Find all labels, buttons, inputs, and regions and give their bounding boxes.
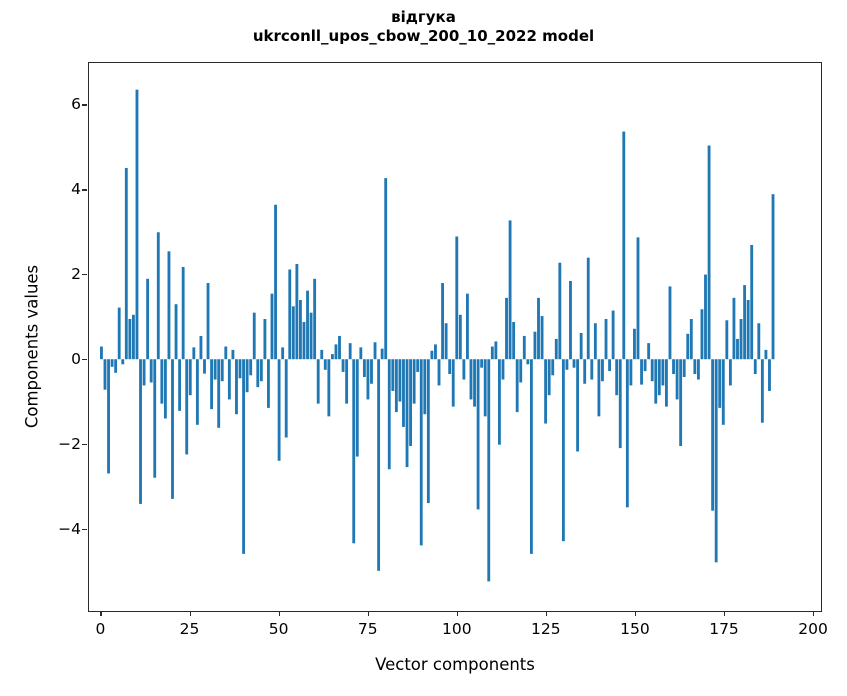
bar bbox=[256, 359, 259, 387]
bar bbox=[224, 347, 227, 360]
bar bbox=[196, 359, 199, 425]
y-tick-label: 2 bbox=[71, 265, 81, 283]
chart-title-line-2: ukrconll_upos_cbow_200_10_2022 model bbox=[0, 27, 847, 46]
bar bbox=[740, 319, 743, 359]
bar bbox=[153, 359, 156, 477]
bar bbox=[210, 359, 213, 409]
bar bbox=[132, 315, 135, 359]
bar bbox=[200, 336, 203, 359]
bar bbox=[150, 359, 153, 382]
bar bbox=[544, 359, 547, 423]
bar bbox=[395, 359, 398, 412]
bar bbox=[171, 359, 174, 499]
bar bbox=[509, 220, 512, 359]
bar bbox=[619, 359, 622, 448]
bar bbox=[388, 359, 391, 469]
x-tick-mark bbox=[100, 611, 101, 616]
bar bbox=[608, 359, 611, 371]
x-tick-label: 175 bbox=[709, 620, 739, 638]
bars-layer bbox=[89, 63, 821, 611]
chart-title-line-1: відгука bbox=[0, 8, 847, 27]
x-tick-label: 75 bbox=[358, 620, 378, 638]
bar bbox=[139, 359, 142, 504]
bar bbox=[160, 359, 163, 403]
bar bbox=[320, 350, 323, 359]
bar bbox=[640, 359, 643, 384]
bar bbox=[722, 359, 725, 425]
bar bbox=[484, 359, 487, 416]
bar bbox=[736, 339, 739, 359]
x-tick-label: 0 bbox=[96, 620, 106, 638]
bar bbox=[185, 359, 188, 454]
bar bbox=[285, 359, 288, 437]
bar bbox=[580, 333, 583, 359]
bar bbox=[686, 334, 689, 359]
bar bbox=[221, 359, 224, 381]
bar bbox=[534, 332, 537, 360]
y-tick-mark bbox=[82, 444, 87, 445]
bar bbox=[683, 359, 686, 377]
x-tick-mark bbox=[813, 611, 814, 616]
bar bbox=[558, 263, 561, 359]
bar bbox=[338, 336, 341, 359]
bar bbox=[399, 359, 402, 401]
bar bbox=[644, 359, 647, 371]
bar bbox=[537, 298, 540, 359]
y-tick-label: 4 bbox=[71, 180, 81, 198]
bar bbox=[597, 359, 600, 416]
bar bbox=[146, 279, 149, 359]
bar bbox=[413, 359, 416, 403]
bar bbox=[374, 342, 377, 359]
bar bbox=[306, 291, 309, 360]
y-tick-label: −4 bbox=[58, 520, 81, 538]
bar bbox=[754, 359, 757, 374]
bar bbox=[633, 329, 636, 359]
bar bbox=[313, 279, 316, 359]
bar bbox=[342, 359, 345, 372]
bar bbox=[352, 359, 355, 543]
bar bbox=[448, 359, 451, 374]
bar bbox=[356, 359, 359, 456]
x-tick-label: 25 bbox=[180, 620, 200, 638]
bar bbox=[757, 323, 760, 359]
bar bbox=[629, 359, 632, 385]
bar bbox=[331, 354, 334, 359]
bar bbox=[470, 359, 473, 399]
bar bbox=[203, 359, 206, 373]
bar bbox=[690, 319, 693, 359]
bar bbox=[661, 359, 664, 385]
bar bbox=[217, 359, 220, 428]
bar bbox=[267, 359, 270, 408]
bar bbox=[367, 359, 370, 399]
bar bbox=[164, 359, 167, 418]
bar bbox=[118, 308, 121, 360]
bar bbox=[260, 359, 263, 381]
bar bbox=[669, 286, 672, 359]
bar bbox=[359, 347, 362, 359]
bar bbox=[111, 359, 114, 367]
y-tick-mark bbox=[82, 359, 87, 360]
bar bbox=[438, 359, 441, 385]
bar bbox=[523, 336, 526, 359]
bar bbox=[715, 359, 718, 562]
bar bbox=[228, 359, 231, 399]
bar bbox=[512, 322, 515, 359]
bar bbox=[370, 359, 373, 384]
bar bbox=[647, 343, 650, 359]
bar bbox=[157, 232, 160, 359]
x-tick-mark bbox=[190, 611, 191, 616]
bar bbox=[416, 359, 419, 372]
chart-title: відгука ukrconll_upos_cbow_200_10_2022 m… bbox=[0, 8, 847, 46]
bar bbox=[445, 323, 448, 359]
bar bbox=[192, 347, 195, 359]
bar bbox=[271, 294, 274, 360]
bar bbox=[324, 359, 327, 370]
bar bbox=[622, 132, 625, 360]
bar bbox=[502, 359, 505, 379]
bar bbox=[249, 359, 252, 375]
x-tick-mark bbox=[724, 611, 725, 616]
bar bbox=[590, 359, 593, 379]
bar bbox=[278, 359, 281, 461]
bar bbox=[310, 313, 313, 360]
bar bbox=[548, 359, 551, 395]
bar bbox=[239, 359, 242, 378]
bar bbox=[427, 359, 430, 503]
x-tick-label: 150 bbox=[620, 620, 650, 638]
bar bbox=[718, 359, 721, 408]
bar bbox=[562, 359, 565, 541]
bar bbox=[121, 359, 124, 364]
bar bbox=[466, 294, 469, 360]
bar bbox=[626, 359, 629, 507]
x-tick-label: 125 bbox=[531, 620, 561, 638]
y-tick-label: −2 bbox=[58, 435, 81, 453]
bar bbox=[587, 258, 590, 360]
y-tick-mark bbox=[82, 529, 87, 530]
y-axis-label: Components values bbox=[23, 72, 42, 622]
bar bbox=[701, 309, 704, 359]
bar bbox=[381, 349, 384, 360]
bar bbox=[246, 359, 249, 392]
bar bbox=[615, 359, 618, 395]
bar bbox=[406, 359, 409, 467]
bar bbox=[317, 359, 320, 403]
bar bbox=[207, 283, 210, 359]
bar bbox=[569, 281, 572, 359]
bar bbox=[409, 359, 412, 446]
figure: відгука ukrconll_upos_cbow_200_10_2022 m… bbox=[0, 0, 847, 696]
bar bbox=[765, 350, 768, 359]
bar bbox=[136, 90, 139, 360]
bar bbox=[253, 313, 256, 360]
bar bbox=[768, 359, 771, 391]
bar bbox=[693, 359, 696, 374]
bar bbox=[551, 359, 554, 375]
bar bbox=[128, 319, 131, 359]
bar bbox=[363, 359, 366, 377]
bar bbox=[505, 298, 508, 359]
bar bbox=[651, 359, 654, 381]
bar bbox=[455, 236, 458, 359]
bar bbox=[182, 267, 185, 359]
x-tick-mark bbox=[546, 611, 547, 616]
bar bbox=[242, 359, 245, 554]
bar bbox=[292, 306, 295, 359]
bar bbox=[541, 316, 544, 359]
x-tick-mark bbox=[457, 611, 458, 616]
bar bbox=[605, 319, 608, 359]
x-tick-mark bbox=[368, 611, 369, 616]
bar bbox=[125, 168, 128, 359]
bar bbox=[612, 311, 615, 360]
x-tick-label: 50 bbox=[269, 620, 289, 638]
bar bbox=[498, 359, 501, 444]
bar bbox=[430, 351, 433, 359]
bar bbox=[441, 283, 444, 359]
bar bbox=[761, 359, 764, 422]
bar bbox=[107, 359, 110, 473]
bar bbox=[594, 323, 597, 359]
x-tick-mark bbox=[279, 611, 280, 616]
bar bbox=[473, 359, 476, 406]
bar bbox=[100, 347, 103, 360]
y-tick-label: 0 bbox=[71, 350, 81, 368]
bar bbox=[708, 146, 711, 360]
bar bbox=[516, 359, 519, 412]
bar bbox=[299, 300, 302, 359]
bar bbox=[231, 350, 234, 359]
bar bbox=[263, 319, 266, 359]
bar bbox=[168, 251, 171, 359]
bar bbox=[477, 359, 480, 509]
bar bbox=[679, 359, 682, 446]
bar bbox=[747, 300, 750, 359]
bar bbox=[303, 322, 306, 359]
bar bbox=[530, 359, 533, 554]
bar bbox=[377, 359, 380, 571]
bar bbox=[480, 359, 483, 367]
bar bbox=[487, 359, 490, 581]
bar bbox=[114, 359, 117, 373]
bar bbox=[743, 285, 746, 359]
x-tick-label: 100 bbox=[442, 620, 472, 638]
bar bbox=[637, 237, 640, 359]
plot-area bbox=[88, 62, 822, 612]
bar bbox=[733, 298, 736, 359]
bar bbox=[750, 245, 753, 359]
bar bbox=[402, 359, 405, 427]
bar bbox=[665, 359, 668, 406]
bar bbox=[335, 344, 338, 359]
bar bbox=[281, 347, 284, 359]
bar bbox=[601, 359, 604, 381]
y-tick-label: 6 bbox=[71, 95, 81, 113]
bar bbox=[704, 275, 707, 360]
x-tick-label: 200 bbox=[798, 620, 828, 638]
bar bbox=[178, 359, 181, 411]
bar bbox=[175, 304, 178, 359]
bar bbox=[288, 270, 291, 360]
x-axis-label: Vector components bbox=[88, 655, 822, 674]
bar bbox=[295, 264, 298, 359]
bar bbox=[729, 359, 732, 385]
bar bbox=[452, 359, 455, 406]
bar bbox=[583, 359, 586, 384]
y-axis-ticks: −4−20246 bbox=[40, 62, 81, 612]
y-tick-mark bbox=[82, 104, 87, 105]
bar bbox=[214, 359, 217, 379]
bar bbox=[274, 205, 277, 359]
bar bbox=[462, 359, 465, 379]
bar bbox=[189, 359, 192, 395]
x-tick-mark bbox=[635, 611, 636, 616]
bar bbox=[672, 359, 675, 374]
bar bbox=[725, 320, 728, 359]
bar bbox=[491, 347, 494, 360]
bar bbox=[576, 359, 579, 451]
bar bbox=[772, 194, 775, 359]
bar bbox=[423, 359, 426, 414]
bar bbox=[658, 359, 661, 395]
bar bbox=[345, 359, 348, 403]
bar bbox=[459, 315, 462, 359]
bar bbox=[391, 359, 394, 391]
bar bbox=[654, 359, 657, 403]
bar bbox=[143, 359, 146, 385]
bar bbox=[573, 359, 576, 367]
bar bbox=[420, 359, 423, 545]
bar bbox=[519, 359, 522, 382]
bar bbox=[104, 359, 107, 389]
bar bbox=[327, 359, 330, 416]
bar bbox=[555, 339, 558, 359]
bar bbox=[235, 359, 238, 414]
bar bbox=[526, 359, 529, 364]
bar bbox=[711, 359, 714, 510]
y-tick-mark bbox=[82, 274, 87, 275]
bar bbox=[676, 359, 679, 399]
y-tick-mark bbox=[82, 189, 87, 190]
bar bbox=[566, 359, 569, 370]
bar bbox=[384, 178, 387, 359]
bar bbox=[697, 359, 700, 379]
bar bbox=[349, 343, 352, 359]
bar bbox=[434, 344, 437, 359]
bar bbox=[494, 341, 497, 359]
